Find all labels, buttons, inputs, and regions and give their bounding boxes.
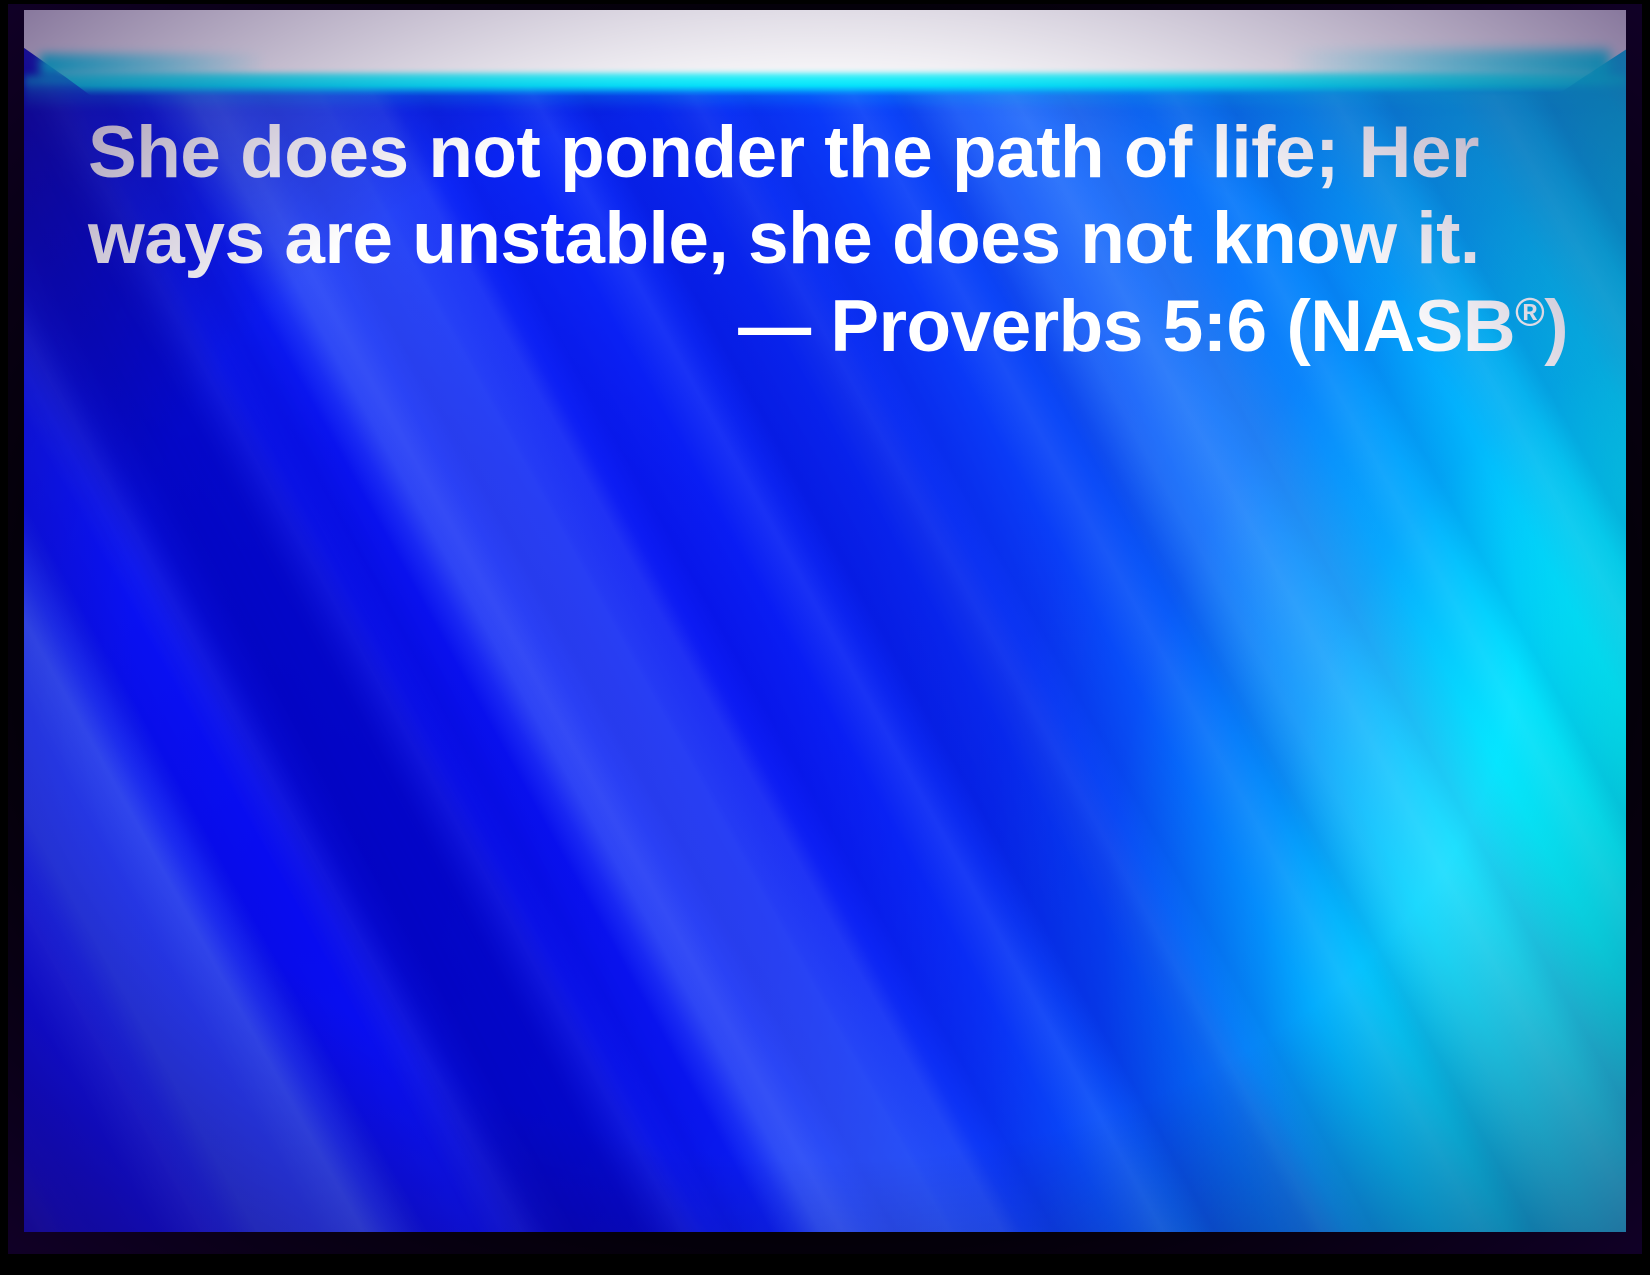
citation-translation-open: (NASB <box>1286 286 1515 367</box>
verse-text-block: She does not ponder the path of life; He… <box>88 110 1568 370</box>
verse-slide: She does not ponder the path of life; He… <box>0 0 1650 1275</box>
slide-canvas: She does not ponder the path of life; He… <box>24 10 1626 1232</box>
citation-reference: Proverbs 5:6 <box>830 286 1266 367</box>
citation-spacer-1 <box>811 286 831 367</box>
registered-trademark-icon: ® <box>1515 290 1544 335</box>
citation-translation-close: ) <box>1544 286 1568 367</box>
verse-line-1: She does not ponder the path of life; He… <box>88 110 1568 196</box>
citation-dash: — <box>738 286 811 367</box>
verse-citation: — Proverbs 5:6 (NASB®) <box>88 284 1568 370</box>
citation-spacer-2 <box>1267 286 1287 367</box>
verse-line-2: ways are unstable, she does not know it. <box>88 196 1568 282</box>
